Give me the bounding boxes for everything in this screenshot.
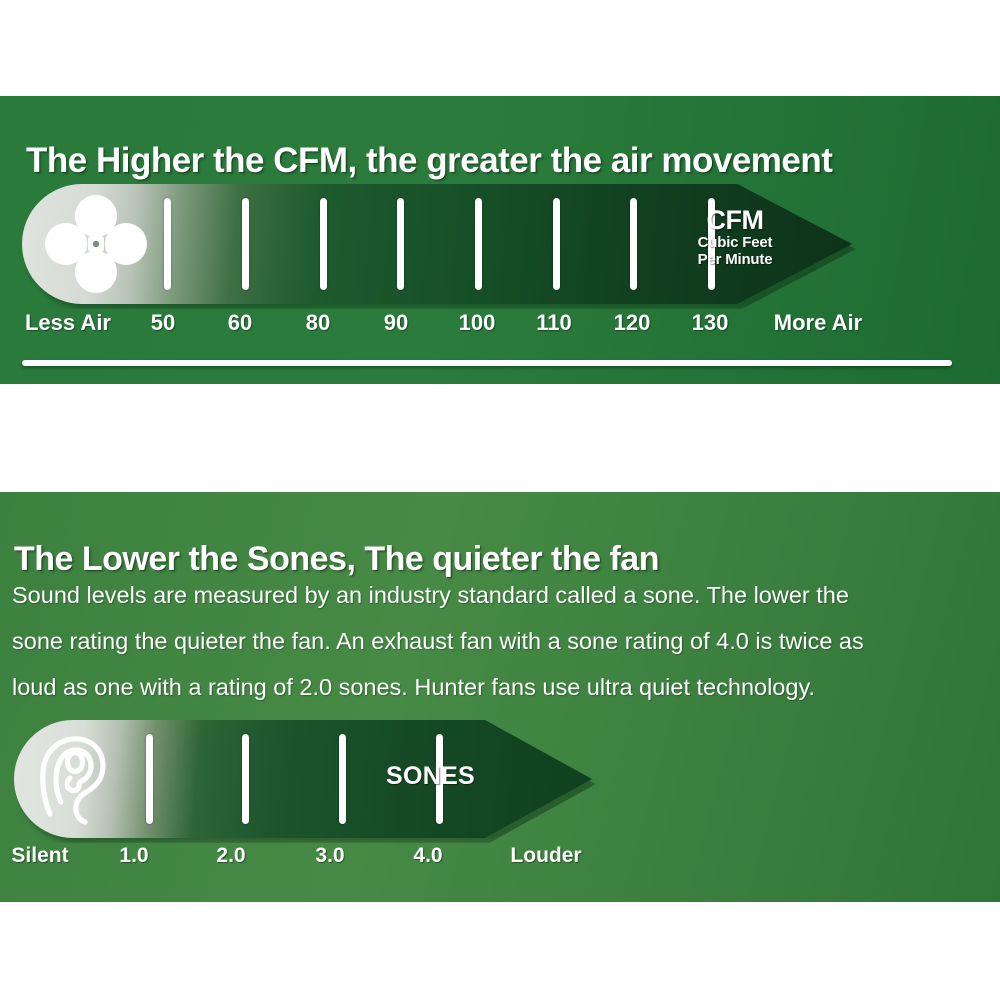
sones-scale-labels: Silent 1.0 2.0 3.0 4.0 Louder [0, 844, 660, 876]
cfm-label-110: 110 [536, 310, 572, 336]
sones-description-line-3: loud as one with a rating of 2.0 sones. … [12, 664, 972, 710]
cfm-label-80: 80 [306, 310, 330, 336]
ear-icon [28, 728, 120, 828]
cfm-tick-120 [630, 198, 637, 289]
cfm-tick-80 [320, 198, 327, 289]
cfm-divider-rule [22, 360, 952, 366]
cfm-label-50: 50 [151, 310, 175, 336]
cfm-panel: The Higher the CFM, the greater the air … [0, 96, 1000, 384]
cfm-label-more-air: More Air [774, 310, 862, 336]
sones-description: Sound levels are measured by an industry… [12, 572, 972, 710]
cfm-label-60: 60 [228, 310, 252, 336]
cfm-label-less-air: Less Air [25, 310, 111, 336]
sones-label-2: 2.0 [216, 844, 245, 868]
sones-tick-2 [242, 734, 249, 824]
sones-label-louder: Louder [510, 844, 581, 868]
fan-icon [44, 194, 148, 294]
cfm-tick-90 [397, 198, 404, 289]
cfm-tick-60 [242, 198, 249, 289]
sones-description-line-2: sone rating the quieter the fan. An exha… [12, 618, 972, 664]
sones-tick-1 [146, 734, 153, 824]
cfm-gauge-bar: CFM Cubic Feet Per Minute [22, 184, 852, 304]
sones-tick-3 [339, 734, 346, 824]
sones-gauge-body: SONES [14, 720, 592, 838]
sones-gauge-bar: SONES [14, 720, 592, 838]
sones-label-1: 1.0 [119, 844, 148, 868]
sones-label-3: 3.0 [315, 844, 344, 868]
cfm-unit-abbreviation: CFM [670, 206, 800, 234]
sones-unit-abbreviation: SONES [386, 762, 536, 791]
infographic-page: The Higher the CFM, the greater the air … [0, 0, 1000, 1000]
cfm-unit-expansion-line1: Cubic Feet [670, 234, 800, 251]
cfm-unit-expansion-line2: Per Minute [670, 251, 800, 268]
cfm-scale-labels: Less Air 50 60 80 90 100 110 120 130 Mor… [0, 310, 1000, 342]
cfm-label-100: 100 [459, 310, 496, 336]
sones-panel: The Lower the Sones, The quieter the fan… [0, 492, 1000, 902]
cfm-heading: The Higher the CFM, the greater the air … [26, 141, 832, 181]
cfm-label-90: 90 [384, 310, 408, 336]
sones-label-silent: Silent [11, 844, 68, 868]
cfm-unit-badge: CFM Cubic Feet Per Minute [670, 206, 800, 268]
cfm-label-120: 120 [614, 310, 651, 336]
sones-label-4: 4.0 [413, 844, 442, 868]
sones-description-line-1: Sound levels are measured by an industry… [12, 572, 972, 618]
cfm-label-130: 130 [692, 310, 729, 336]
cfm-gauge-body: CFM Cubic Feet Per Minute [22, 184, 852, 304]
cfm-tick-100 [475, 198, 482, 289]
sones-unit-badge: SONES [386, 762, 536, 791]
cfm-tick-50 [164, 198, 171, 289]
cfm-tick-110 [553, 198, 560, 289]
